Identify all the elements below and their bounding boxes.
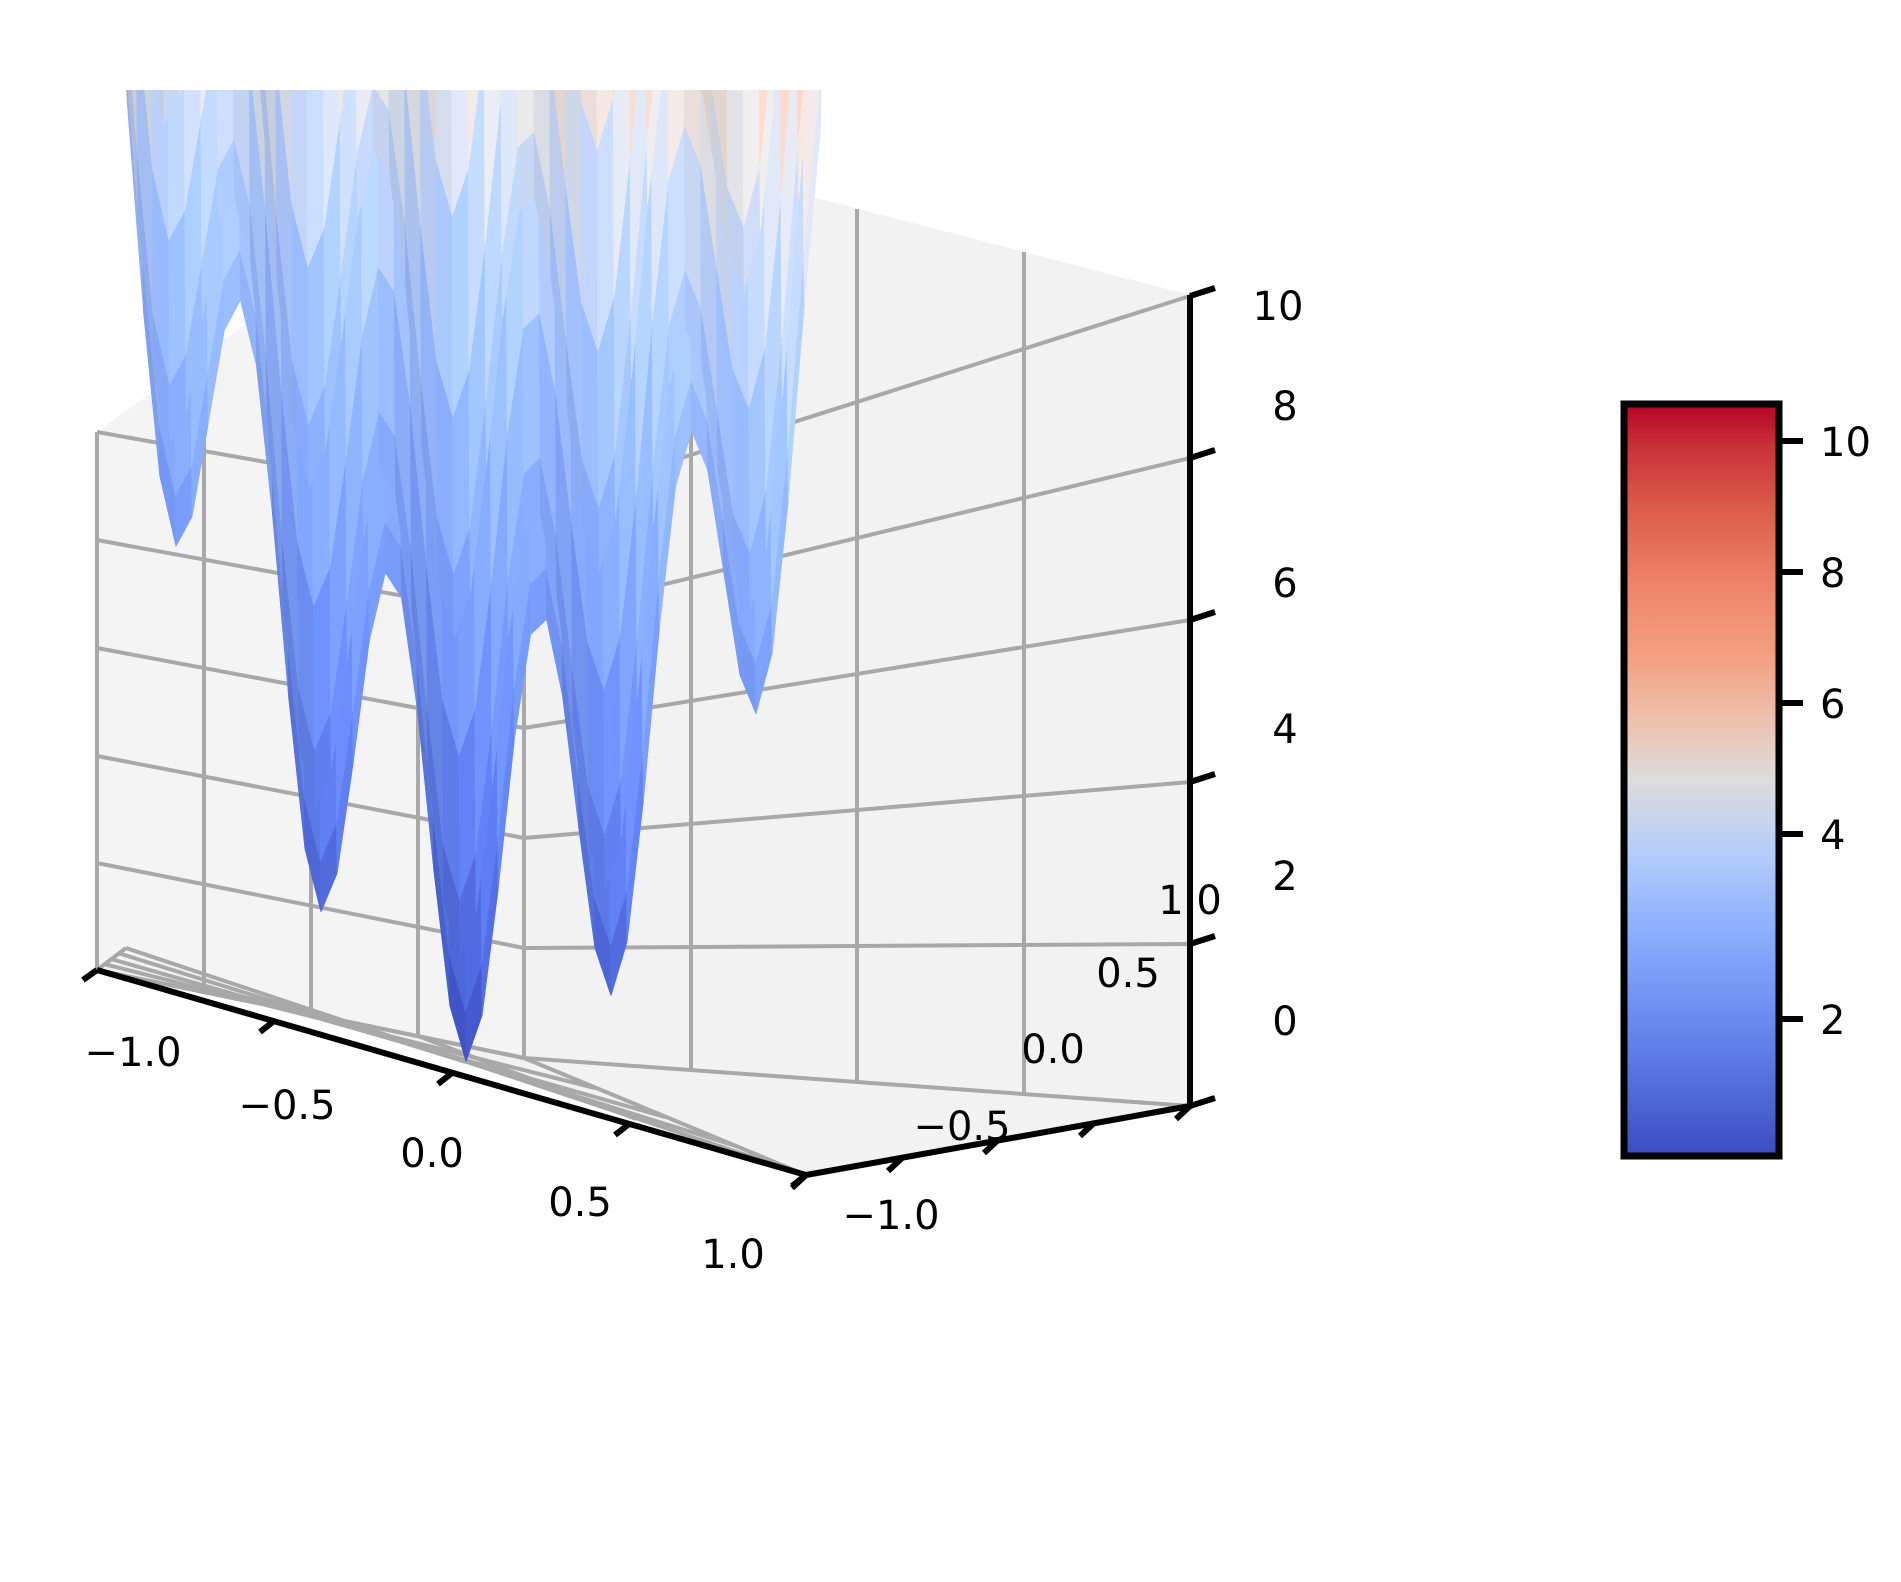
x-tick-0.5: [615, 1124, 629, 1135]
z-tick-2: [1190, 936, 1215, 944]
colorbar[interactable]: 10 8 6 4 2: [1624, 404, 1871, 1156]
z-tick-8: [1190, 450, 1215, 458]
colorbar-label-6: 6: [1820, 682, 1845, 728]
colorbar-tick-labels: 10 8 6 4 2: [1820, 420, 1871, 1044]
z-tick-0: [1190, 1098, 1215, 1106]
x-tick-label-2: 0.0: [400, 1131, 464, 1177]
y-tick-label-4: −1.0: [842, 1193, 939, 1239]
z-tick-10: [1190, 288, 1215, 296]
z-tick-label-10: 10: [1253, 284, 1304, 330]
x-tick--1.0: [83, 970, 97, 980]
colorbar-ticks: [1779, 441, 1803, 1019]
y-tick-label-1: 0.5: [1096, 951, 1160, 997]
x-tick--0.5: [260, 1021, 274, 1032]
surface-plot-3d: −1.0 −0.5 0.0 0.5 1.0 1.0 0.5 0.0 −0.5 −…: [0, 0, 1901, 1582]
x-tick-label-3: 0.5: [548, 1180, 612, 1226]
z-tick-4: [1190, 774, 1215, 782]
y-tick-label-3: −0.5: [913, 1104, 1010, 1150]
z-tick-labels: 10 8 6 4 2 0: [1253, 284, 1304, 1045]
colorbar-label-2: 2: [1820, 998, 1845, 1044]
x-tick-label-4: 1.0: [701, 1232, 765, 1278]
y-tick-label-2: 0.0: [1021, 1027, 1085, 1073]
x-tick-0.0: [438, 1073, 452, 1084]
x-tick-label-1: −0.5: [238, 1083, 335, 1129]
z-tick-label-4: 4: [1272, 707, 1297, 753]
colorbar-label-8: 8: [1820, 551, 1845, 597]
z-tick-label-6: 6: [1272, 561, 1297, 607]
z-tick-label-0: 0: [1272, 999, 1297, 1045]
z-tick-label-2: 2: [1272, 854, 1297, 900]
x-tick-label-0: −1.0: [84, 1030, 181, 1076]
colorbar-label-10: 10: [1820, 420, 1871, 466]
figure-canvas: −1.0 −0.5 0.0 0.5 1.0 1.0 0.5 0.0 −0.5 −…: [0, 0, 1901, 1582]
colorbar-label-4: 4: [1820, 813, 1845, 859]
colorbar-gradient[interactable]: [1624, 404, 1779, 1156]
z-tick-6: [1190, 612, 1215, 620]
z-tick-label-8: 8: [1272, 384, 1297, 430]
y-tick-label-0: 1.0: [1158, 878, 1222, 924]
